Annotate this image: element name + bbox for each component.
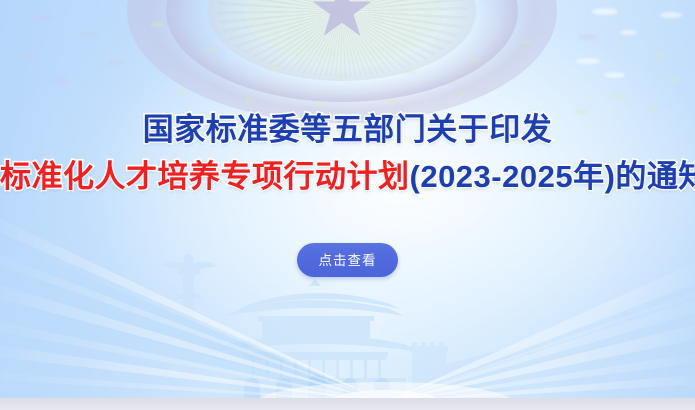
- cta-container: 点击查看: [0, 243, 695, 277]
- page-title-line-2-tail: (2023-2025年)的通知: [410, 159, 695, 194]
- bottom-strip: [0, 398, 695, 410]
- light-ray-fan-icon: [0, 0, 695, 410]
- view-details-button[interactable]: 点击查看: [297, 243, 398, 277]
- policy-announcement-banner: 国家标准委等五部门关于印发 标准化人才培养专项行动计划(2023-2025年)的…: [0, 0, 695, 410]
- page-title-line-1: 国家标准委等五部门关于印发: [0, 112, 695, 147]
- page-title-line-2: 标准化人才培养专项行动计划(2023-2025年)的通知: [0, 159, 695, 194]
- page-title-line-2-highlight: 标准化人才培养专项行动计划: [0, 159, 410, 194]
- banner-title-block: 国家标准委等五部门关于印发 标准化人才培养专项行动计划(2023-2025年)的…: [0, 112, 695, 195]
